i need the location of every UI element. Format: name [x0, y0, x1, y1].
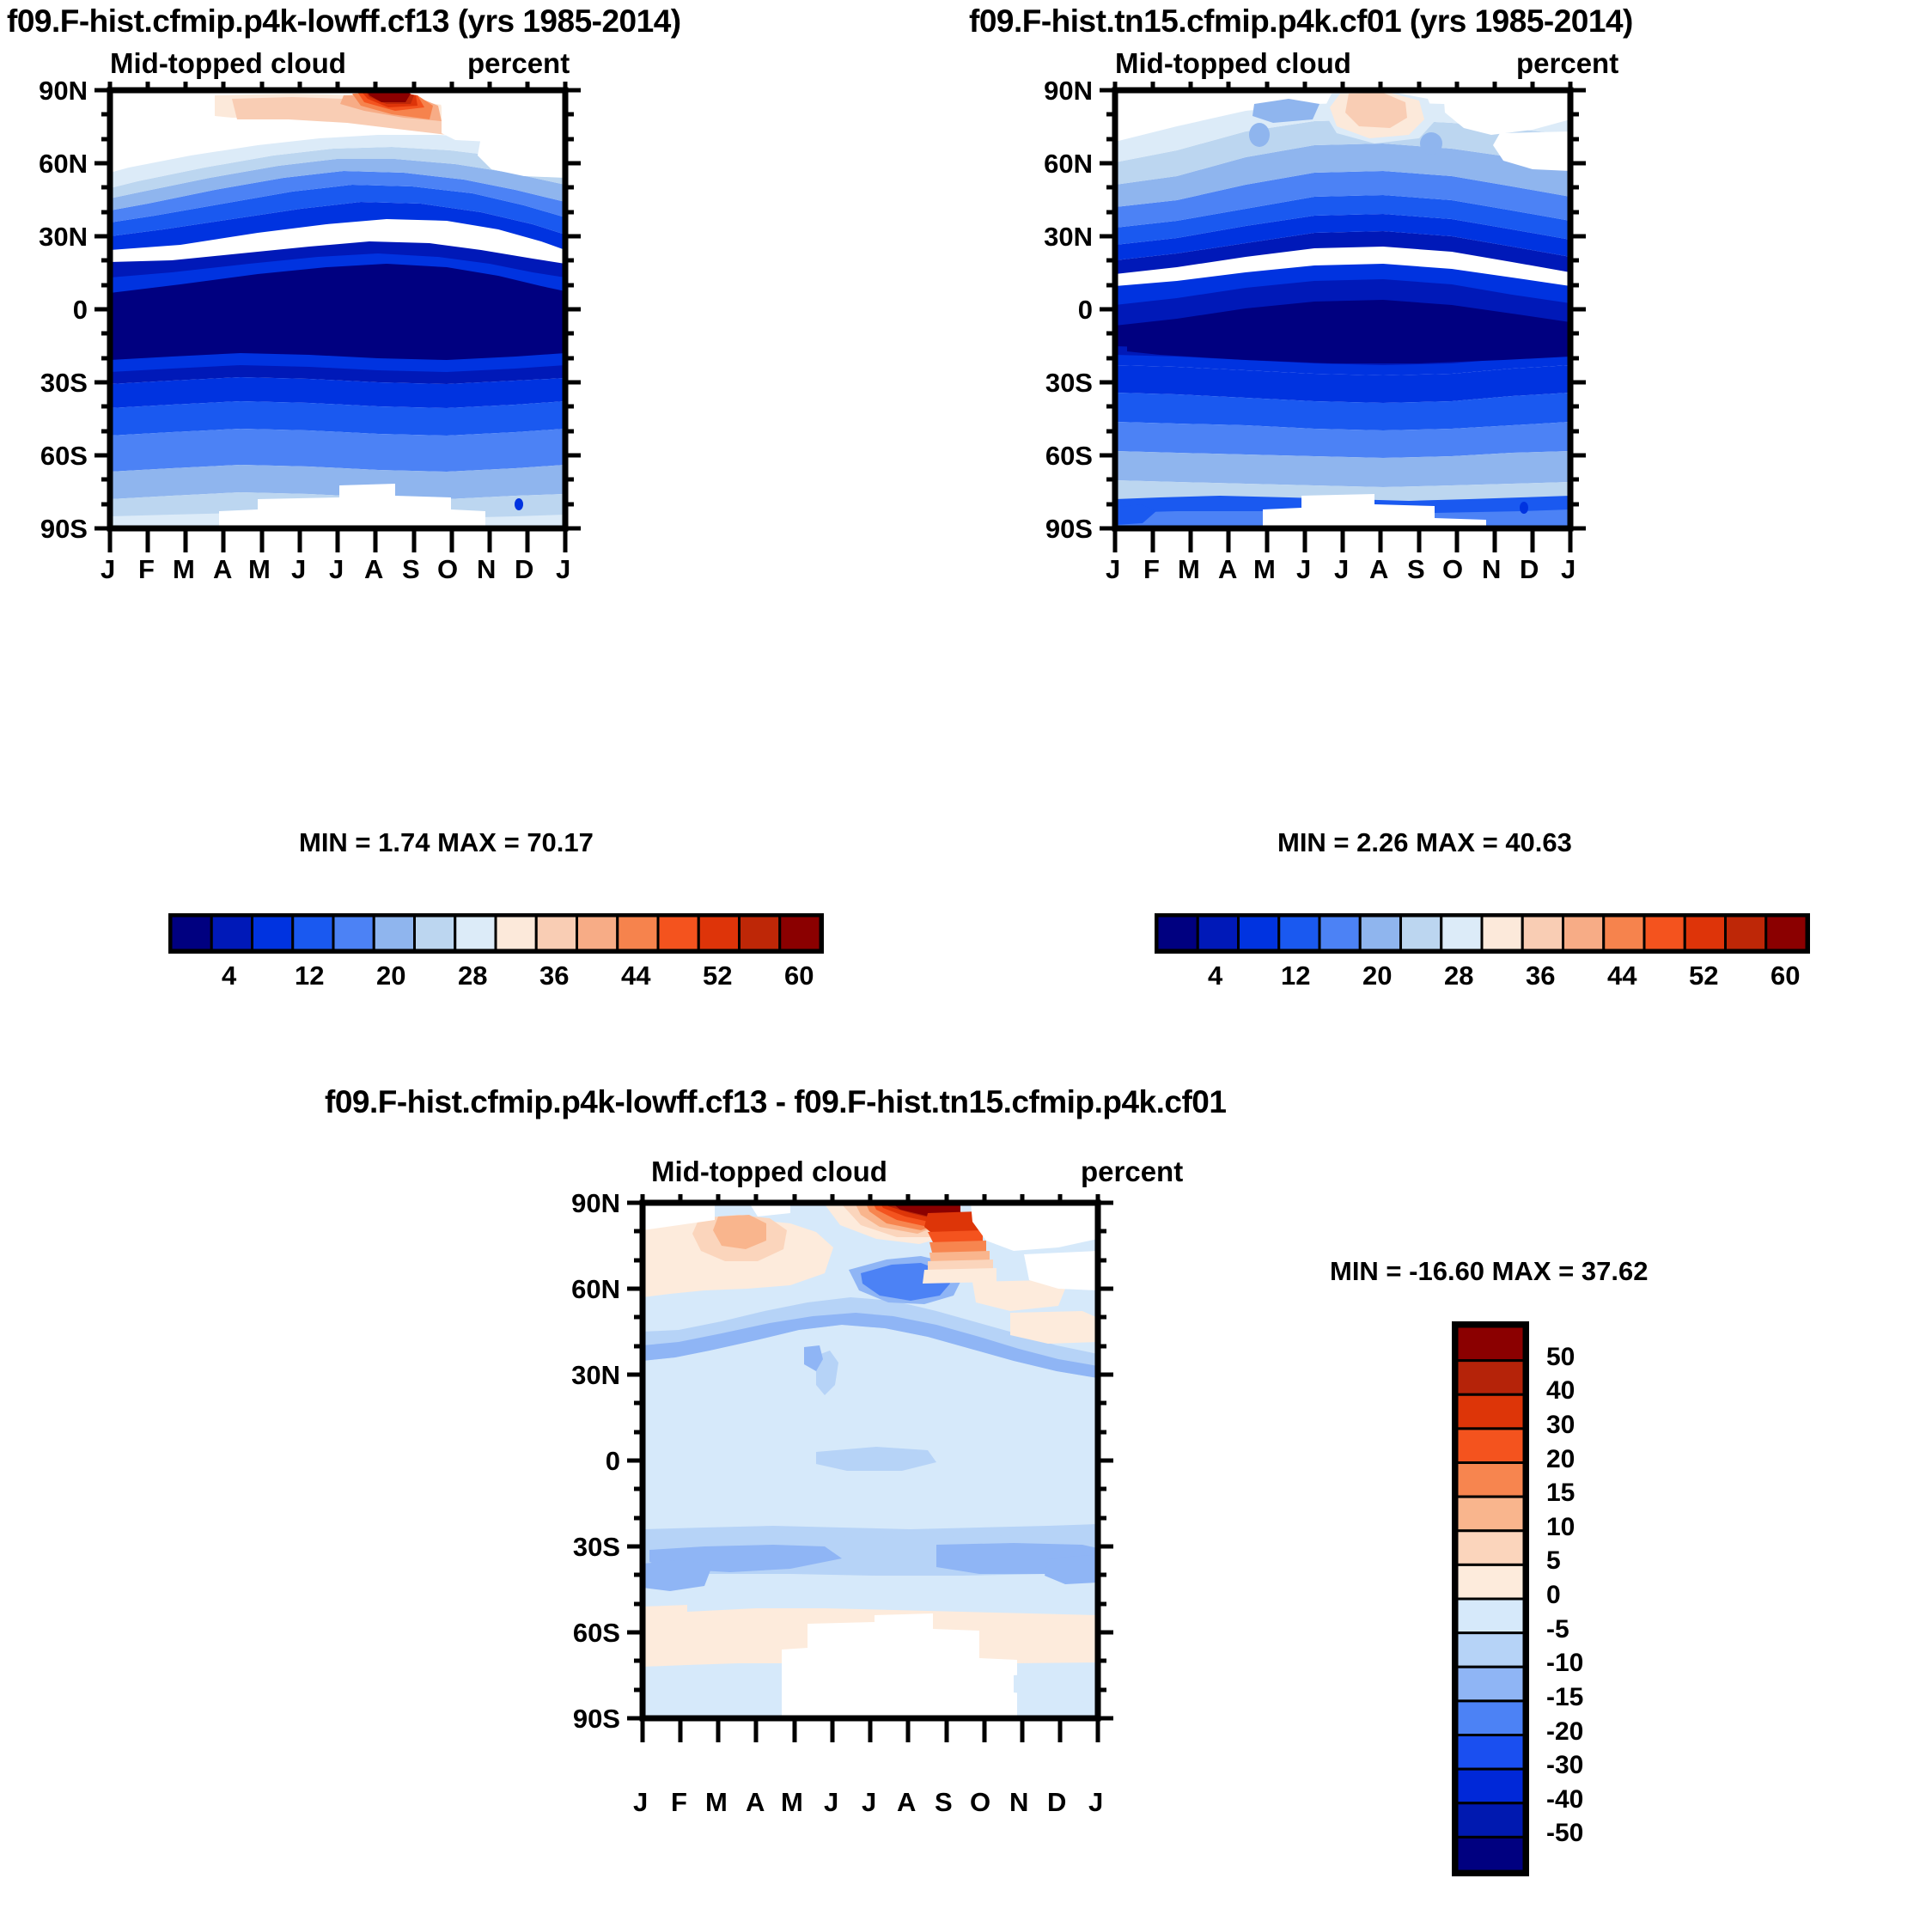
- colorbar-tick-label: 28: [1444, 961, 1473, 991]
- colorbar-panel-3[interactable]: [1452, 1321, 1546, 1880]
- x-tick-label: S: [935, 1787, 953, 1818]
- x-tick-label: M: [705, 1787, 728, 1818]
- y-tick-label-90n-panel-2: 90N: [1014, 76, 1093, 107]
- colorbar-tick-label: -50: [1546, 1819, 1583, 1848]
- colorbar-tick-label: 60: [784, 961, 814, 991]
- x-tick-label: J: [556, 554, 570, 585]
- contour-field-panel-3: [643, 1203, 1098, 1718]
- y-tick-label-60n-panel-2: 60N: [1014, 149, 1093, 180]
- colorbar-swatch: [171, 916, 211, 950]
- x-tick-label: F: [671, 1787, 687, 1818]
- x-tick-label: J: [1296, 554, 1311, 585]
- colorbar-swatch: [1685, 916, 1725, 950]
- colorbar-tick-label: 60: [1770, 961, 1800, 991]
- colorbar-swatch: [293, 916, 333, 950]
- panel-top-left-plot[interactable]: [0, 82, 842, 795]
- x-tick-label: J: [862, 1787, 876, 1818]
- colorbar-swatch: [1457, 1735, 1524, 1770]
- x-tick-labels-panel-2: J F M A M J J A S O N D J: [1115, 554, 1570, 590]
- colorbar-tick-label: -5: [1546, 1615, 1569, 1644]
- colorbar-swatch: [1644, 916, 1685, 950]
- colorbar-tick-label: -30: [1546, 1751, 1583, 1780]
- colorbar-swatch: [496, 916, 536, 950]
- y-tick-label-30n-panel-3: 30N: [541, 1360, 620, 1391]
- x-tick-label: D: [1520, 554, 1539, 585]
- colorbar-tick-label: 44: [621, 961, 650, 991]
- colorbar-swatch: [1457, 1394, 1524, 1429]
- colorbar-swatch: [1766, 916, 1807, 950]
- colorbar-swatch: [1457, 1701, 1524, 1735]
- colorbar-swatch: [455, 916, 496, 950]
- colorbar-swatch: [1457, 1599, 1524, 1633]
- x-tick-label: M: [781, 1787, 803, 1818]
- panel-bottom-diff-variable-label: Mid-topped cloud: [651, 1156, 887, 1188]
- panel-top-right-title: f09.F-hist.tn15.cfmip.p4k.cf01 (yrs 1985…: [969, 3, 1633, 40]
- colorbar-swatch: [658, 916, 698, 950]
- x-tick-label: M: [1178, 554, 1200, 585]
- y-tick-label-90n-panel-1: 90N: [9, 76, 88, 107]
- colorbar-panel-2[interactable]: [1155, 913, 1813, 956]
- colorbar-swatch: [577, 916, 618, 950]
- colorbar-swatch: [1457, 1429, 1524, 1463]
- colorbar-tick-label: -10: [1546, 1649, 1583, 1678]
- colorbar-swatch: [698, 916, 739, 950]
- colorbar-tick-label: -20: [1546, 1717, 1583, 1747]
- y-tick-label-30s-panel-2: 30S: [1014, 368, 1093, 399]
- colorbar-swatch: [1360, 916, 1400, 950]
- colorbar-tick-label: -15: [1546, 1683, 1583, 1712]
- colorbar-swatch: [211, 916, 252, 950]
- x-tick-label: J: [291, 554, 306, 585]
- panel-top-right-variable-label: Mid-topped cloud: [1115, 47, 1351, 80]
- x-tick-label: M: [248, 554, 271, 585]
- colorbar-labels-panel-2: 4 12 20 28 36 44 52 60: [1155, 961, 1813, 997]
- colorbar-tick-label: 5: [1546, 1546, 1561, 1576]
- x-tick-label: O: [437, 554, 458, 585]
- y-tick-label-90s-panel-1: 90S: [9, 514, 88, 545]
- x-tick-label: D: [1047, 1787, 1066, 1818]
- y-tick-label-60s-panel-1: 60S: [9, 441, 88, 472]
- panel-top-right-plot[interactable]: [1005, 82, 1847, 795]
- colorbar-tick-label: 36: [539, 961, 569, 991]
- colorbar-swatch: [1457, 1633, 1524, 1668]
- y-tick-label-30s-panel-1: 30S: [9, 368, 88, 399]
- colorbar-tick-label: 0: [1546, 1581, 1561, 1610]
- contour-field-panel-2: [1115, 90, 1570, 528]
- colorbar-swatch: [1457, 1326, 1524, 1361]
- x-tick-label: S: [1407, 554, 1425, 585]
- colorbar-swatch: [1157, 916, 1198, 950]
- panel-bottom-diff-units-label: percent: [1081, 1156, 1183, 1188]
- colorbar-swatch: [1726, 916, 1766, 950]
- colorbar-swatch: [740, 916, 780, 950]
- panel-bottom-diff-minmax: MIN = -16.60 MAX = 37.62: [1330, 1256, 1648, 1287]
- y-tick-label-30s-panel-3: 30S: [541, 1532, 620, 1563]
- colorbar-tick-label: 4: [222, 961, 236, 991]
- x-tick-label: N: [1009, 1787, 1028, 1818]
- x-tick-label: J: [633, 1787, 648, 1818]
- y-tick-label-90s-panel-3: 90S: [541, 1704, 620, 1735]
- x-tick-label: J: [329, 554, 344, 585]
- colorbar-swatch: [253, 916, 293, 950]
- colorbar-tick-label: 36: [1526, 961, 1555, 991]
- x-tick-label: A: [746, 1787, 765, 1818]
- panel-top-left-minmax: MIN = 1.74 MAX = 70.17: [299, 827, 594, 858]
- colorbar-tick-label: 40: [1546, 1376, 1575, 1406]
- x-tick-label: A: [897, 1787, 916, 1818]
- y-tick-label-0-panel-2: 0: [1014, 295, 1093, 326]
- colorbar-tick-label: 52: [1689, 961, 1718, 991]
- colorbar-swatch: [1457, 1837, 1524, 1871]
- x-tick-label: O: [970, 1787, 990, 1818]
- y-tick-label-60s-panel-2: 60S: [1014, 441, 1093, 472]
- panel-top-right-minmax: MIN = 2.26 MAX = 40.63: [1277, 827, 1572, 858]
- x-tick-label: J: [824, 1787, 838, 1818]
- colorbar-swatch: [1563, 916, 1604, 950]
- x-tick-label: N: [1482, 554, 1501, 585]
- colorbar-tick-label: 12: [295, 961, 324, 991]
- x-tick-label: F: [1143, 554, 1160, 585]
- colorbar-tick-label: 15: [1546, 1479, 1575, 1508]
- colorbar-swatch: [536, 916, 576, 950]
- x-tick-label: A: [1369, 554, 1388, 585]
- colorbar-panel-1[interactable]: [168, 913, 826, 956]
- y-tick-label-90n-panel-3: 90N: [541, 1188, 620, 1219]
- x-tick-label: J: [1106, 554, 1120, 585]
- x-tick-label: J: [101, 554, 115, 585]
- colorbar-swatch: [1239, 916, 1279, 950]
- x-tick-labels-panel-1: J F M A M J J A S O N D J: [110, 554, 565, 590]
- colorbar-tick-label: 12: [1281, 961, 1310, 991]
- colorbar-swatch: [1457, 1769, 1524, 1803]
- colorbar-tick-label: 20: [376, 961, 405, 991]
- y-tick-label-0-panel-1: 0: [9, 295, 88, 326]
- x-tick-label: J: [1561, 554, 1575, 585]
- colorbar-tick-label: 52: [703, 961, 732, 991]
- y-tick-label-30n-panel-2: 30N: [1014, 222, 1093, 253]
- x-tick-label: O: [1442, 554, 1463, 585]
- colorbar-swatch: [1604, 916, 1644, 950]
- colorbar-swatch: [1482, 916, 1522, 950]
- colorbar-swatch: [780, 916, 820, 950]
- colorbar-swatch: [1401, 916, 1441, 950]
- colorbar-swatch: [1319, 916, 1360, 950]
- colorbar-tick-label: 28: [458, 961, 487, 991]
- colorbar-tick-label: 20: [1546, 1445, 1575, 1474]
- panel-top-right-units-label: percent: [1516, 47, 1618, 80]
- y-tick-label-90s-panel-2: 90S: [1014, 514, 1093, 545]
- x-tick-label: J: [1334, 554, 1349, 585]
- x-tick-label: D: [515, 554, 533, 585]
- x-tick-label: N: [477, 554, 496, 585]
- colorbar-swatch: [415, 916, 455, 950]
- colorbar-tick-label: 10: [1546, 1513, 1575, 1542]
- colorbar-swatch: [618, 916, 658, 950]
- x-tick-label: A: [364, 554, 383, 585]
- colorbar-tick-label: 44: [1607, 961, 1636, 991]
- panel-top-left-variable-label: Mid-topped cloud: [110, 47, 346, 80]
- x-tick-label: A: [1218, 554, 1237, 585]
- x-tick-label: J: [1088, 1787, 1103, 1818]
- x-tick-label: A: [213, 554, 232, 585]
- colorbar-swatch: [1457, 1564, 1524, 1599]
- colorbar-tick-label: 50: [1546, 1343, 1575, 1372]
- colorbar-tick-label: -40: [1546, 1785, 1583, 1814]
- colorbar-swatch: [1279, 916, 1319, 950]
- panel-top-left-title: f09.F-hist.cfmip.p4k-lowff.cf13 (yrs 198…: [7, 3, 681, 40]
- colorbar-tick-label: 4: [1208, 961, 1222, 991]
- colorbar-swatch: [374, 916, 414, 950]
- colorbar-swatch: [1457, 1531, 1524, 1565]
- panel-bottom-diff-plot[interactable]: [533, 1194, 1374, 1881]
- panel-bottom-diff-title: f09.F-hist.cfmip.p4k-lowff.cf13 - f09.F-…: [325, 1084, 1226, 1120]
- colorbar-swatch: [1457, 1497, 1524, 1531]
- x-tick-label: F: [138, 554, 155, 585]
- contour-field-panel-1: [110, 90, 565, 528]
- colorbar-swatch: [1441, 916, 1482, 950]
- colorbar-swatch: [1457, 1463, 1524, 1497]
- colorbar-tick-label: 30: [1546, 1411, 1575, 1440]
- x-tick-label: M: [1253, 554, 1276, 585]
- y-tick-label-60s-panel-3: 60S: [541, 1618, 620, 1649]
- colorbar-tick-label: 20: [1362, 961, 1392, 991]
- panel-top-left-units-label: percent: [467, 47, 570, 80]
- colorbar-swatch: [1457, 1667, 1524, 1701]
- colorbar-swatch: [1522, 916, 1563, 950]
- colorbar-labels-panel-3: 50403020151050-5-10-15-20-30-40-50: [1546, 1321, 1649, 1880]
- x-tick-label: S: [402, 554, 420, 585]
- colorbar-swatch: [1198, 916, 1238, 950]
- colorbar-labels-panel-1: 4 12 20 28 36 44 52 60: [168, 961, 826, 997]
- y-tick-label-60n-panel-3: 60N: [541, 1274, 620, 1305]
- colorbar-swatch: [1457, 1361, 1524, 1395]
- y-tick-label-0-panel-3: 0: [541, 1446, 620, 1477]
- colorbar-swatch: [333, 916, 374, 950]
- colorbar-swatch: [1457, 1803, 1524, 1838]
- y-tick-label-30n-panel-1: 30N: [9, 222, 88, 253]
- x-tick-labels-panel-3: J F M A M J J A S O N D J: [643, 1787, 1098, 1823]
- x-tick-label: M: [173, 554, 195, 585]
- y-tick-label-60n-panel-1: 60N: [9, 149, 88, 180]
